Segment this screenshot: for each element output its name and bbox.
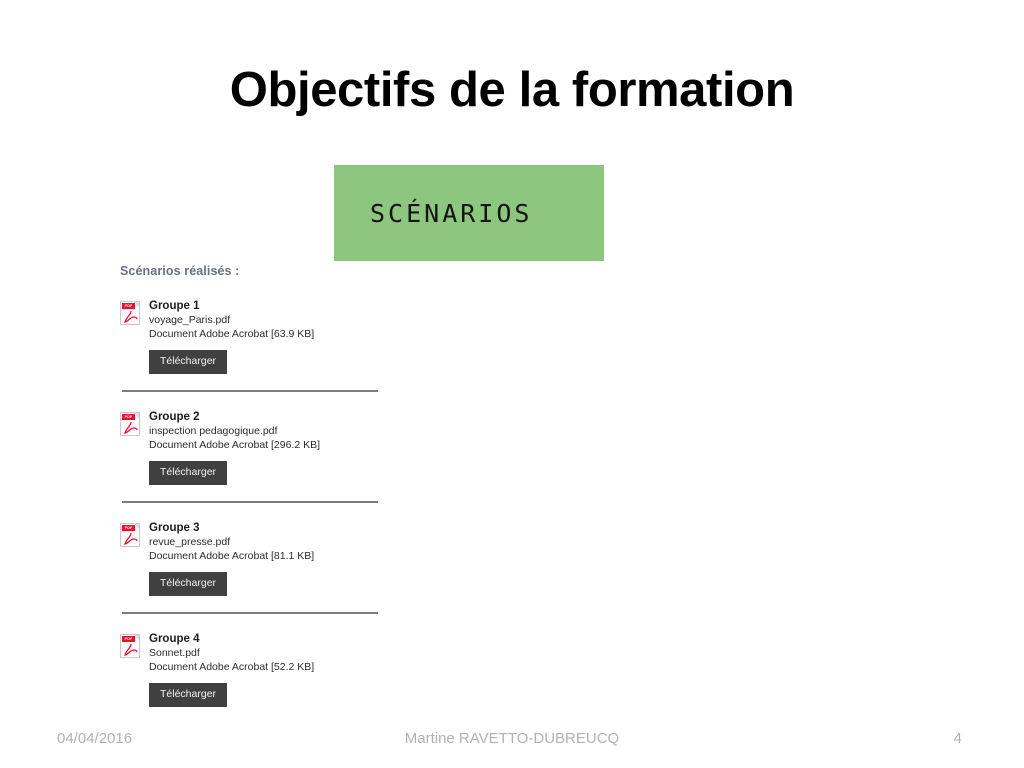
file-meta: Groupe 3 revue_presse.pdf Document Adobe…: [149, 521, 380, 596]
pdf-file-icon: PDF: [120, 412, 140, 436]
file-type-label: Document Adobe Acrobat [81.1 KB]: [149, 549, 380, 563]
acrobat-swirl-icon: [124, 643, 138, 657]
acrobat-swirl-icon: [124, 310, 138, 324]
footer-author: Martine RAVETTO-DUBREUCQ: [0, 729, 1024, 749]
slide-canvas: { "slide": { "title": "Objectifs de la f…: [0, 0, 1024, 768]
file-meta: Groupe 1 voyage_Paris.pdf Document Adobe…: [149, 299, 380, 374]
file-group-label: Groupe 1: [149, 299, 380, 313]
download-button[interactable]: Télécharger: [149, 572, 227, 596]
list-item: PDF Groupe 1 voyage_Paris.pdf Document A…: [120, 296, 380, 374]
scenarios-document-block: Scénarios réalisés : PDF Groupe 1 voyage…: [120, 264, 420, 707]
file-meta: Groupe 4 Sonnet.pdf Document Adobe Acrob…: [149, 632, 380, 707]
download-button[interactable]: Télécharger: [149, 461, 227, 485]
file-meta: Groupe 2 inspection pedagogique.pdf Docu…: [149, 410, 380, 485]
scenarios-banner: SCÉNARIOS: [334, 165, 604, 261]
file-type-label: Document Adobe Acrobat [296.2 KB]: [149, 438, 380, 452]
file-name-label: Sonnet.pdf: [149, 646, 380, 660]
scenarios-section-heading: Scénarios réalisés :: [120, 264, 420, 278]
footer-page-number: 4: [954, 729, 962, 749]
list-separator: [122, 390, 378, 392]
list-item: PDF Groupe 4 Sonnet.pdf Document Adobe A…: [120, 629, 380, 707]
file-group-label: Groupe 3: [149, 521, 380, 535]
file-type-label: Document Adobe Acrobat [63.9 KB]: [149, 327, 380, 341]
pdf-badge-label: PDF: [122, 303, 135, 309]
list-item: PDF Groupe 3 revue_presse.pdf Document A…: [120, 518, 380, 596]
list-item: PDF Groupe 2 inspection pedagogique.pdf …: [120, 407, 380, 485]
acrobat-swirl-icon: [124, 532, 138, 546]
slide-footer: 04/04/2016 Martine RAVETTO-DUBREUCQ 4: [0, 729, 1024, 749]
list-separator: [122, 501, 378, 503]
file-name-label: inspection pedagogique.pdf: [149, 424, 380, 438]
download-button[interactable]: Télécharger: [149, 683, 227, 707]
list-separator: [122, 612, 378, 614]
file-type-label: Document Adobe Acrobat [52.2 KB]: [149, 660, 380, 674]
pdf-badge-label: PDF: [122, 636, 135, 642]
file-name-label: revue_presse.pdf: [149, 535, 380, 549]
file-download-list: PDF Groupe 1 voyage_Paris.pdf Document A…: [120, 296, 380, 707]
pdf-file-icon: PDF: [120, 634, 140, 658]
file-group-label: Groupe 4: [149, 632, 380, 646]
file-group-label: Groupe 2: [149, 410, 380, 424]
scenarios-banner-label: SCÉNARIOS: [334, 199, 532, 228]
download-button[interactable]: Télécharger: [149, 350, 227, 374]
page-title: Objectifs de la formation: [0, 64, 1024, 117]
acrobat-swirl-icon: [124, 421, 138, 435]
pdf-badge-label: PDF: [122, 525, 135, 531]
file-name-label: voyage_Paris.pdf: [149, 313, 380, 327]
pdf-badge-label: PDF: [122, 414, 135, 420]
pdf-file-icon: PDF: [120, 523, 140, 547]
pdf-file-icon: PDF: [120, 301, 140, 325]
